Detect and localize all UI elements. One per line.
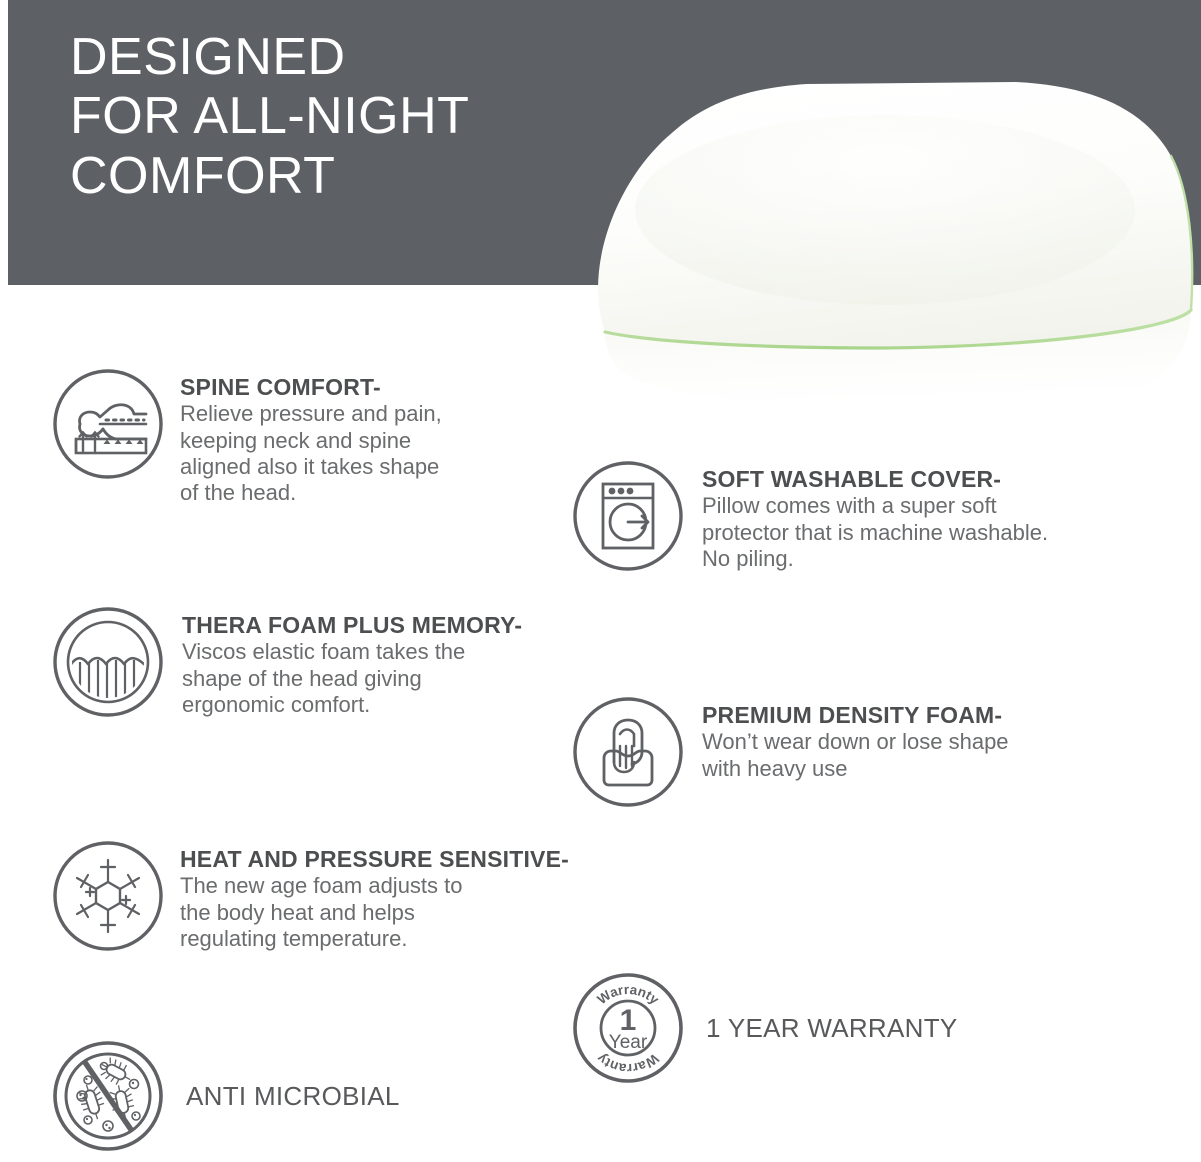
- feature-soft-washable-cover: SOFT WASHABLE COVER- Pillow comes with a…: [572, 460, 1048, 572]
- hand-pressing-foam-icon: [572, 696, 684, 808]
- pillow-highlight: [635, 115, 1135, 305]
- feature-label: ANTI MICROBIAL: [186, 1082, 400, 1111]
- feature-anti-microbial: ANTI MICROBIAL: [52, 1040, 400, 1152]
- feature-body: Won’t wear down or lose shape with heavy…: [702, 729, 1009, 782]
- feature-body: The new age foam adjusts to the body hea…: [180, 873, 569, 952]
- feature-body: Relieve pressure and pain, keeping neck …: [180, 401, 442, 507]
- feature-label: 1 YEAR WARRANTY: [706, 1014, 958, 1043]
- snowflake-icon: [52, 840, 164, 952]
- warranty-unit: Year: [609, 1032, 648, 1053]
- infographic-canvas: DESIGNED FOR ALL-NIGHT COMFORT: [0, 0, 1201, 1162]
- feature-text: THERA FOAM PLUS MEMORY- Viscos elastic f…: [182, 606, 522, 718]
- anti-microbial-icon: [52, 1040, 164, 1152]
- feature-text: 1 YEAR WARRANTY: [706, 1014, 958, 1043]
- washing-machine-icon: [572, 460, 684, 572]
- feature-heading: SPINE COMFORT-: [180, 374, 442, 400]
- feature-text: HEAT AND PRESSURE SENSITIVE- The new age…: [180, 840, 569, 952]
- page-title: DESIGNED FOR ALL-NIGHT COMFORT: [70, 28, 469, 206]
- feature-body: Viscos elastic foam takes the shape of t…: [182, 639, 522, 718]
- feature-text: PREMIUM DENSITY FOAM- Won’t wear down or…: [702, 696, 1009, 782]
- spine-comfort-icon: [52, 368, 164, 480]
- feature-heading: THERA FOAM PLUS MEMORY-: [182, 612, 522, 638]
- feature-text: ANTI MICROBIAL: [186, 1082, 400, 1111]
- feature-heading: SOFT WASHABLE COVER-: [702, 466, 1048, 492]
- feature-body: Pillow comes with a super soft protector…: [702, 493, 1048, 572]
- pillow-illustration: [455, 60, 1201, 410]
- feature-warranty: Warranty Warranty 1 Year 1 YEAR WARRANTY: [572, 972, 958, 1084]
- feature-premium-density-foam: PREMIUM DENSITY FOAM- Won’t wear down or…: [572, 696, 1009, 808]
- foam-cross-section-icon: [52, 606, 164, 718]
- feature-thera-foam-plus-memory: THERA FOAM PLUS MEMORY- Viscos elastic f…: [52, 606, 522, 718]
- feature-heading: PREMIUM DENSITY FOAM-: [702, 702, 1009, 728]
- banner-left-edge: [0, 0, 8, 285]
- feature-text: SPINE COMFORT- Relieve pressure and pain…: [180, 368, 442, 507]
- warranty-badge-icon: Warranty Warranty 1 Year: [572, 972, 684, 1084]
- feature-heading: HEAT AND PRESSURE SENSITIVE-: [180, 846, 569, 872]
- feature-text: SOFT WASHABLE COVER- Pillow comes with a…: [702, 460, 1048, 572]
- feature-spine-comfort: SPINE COMFORT- Relieve pressure and pain…: [52, 368, 442, 507]
- pillow-product-image: [455, 60, 1201, 410]
- feature-heat-and-pressure-sensitive: HEAT AND PRESSURE SENSITIVE- The new age…: [52, 840, 569, 952]
